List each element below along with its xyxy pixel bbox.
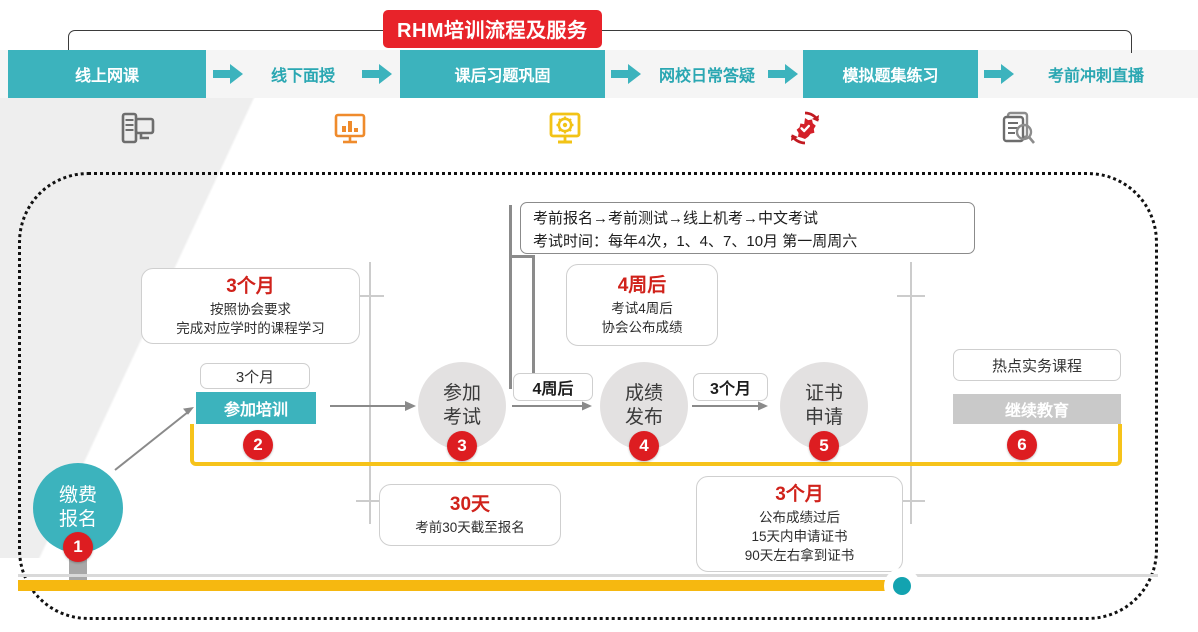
step-2-chip-main[interactable]: 参加培训 bbox=[196, 392, 316, 424]
guide-tick-right-top bbox=[897, 295, 925, 297]
note-line-1: 按照协会要求 bbox=[210, 300, 291, 319]
note-three-month-certificate: 3个月 公布成绩过后 15天内申请证书 90天左右拿到证书 bbox=[696, 476, 903, 572]
header-arrow-1 bbox=[213, 63, 243, 85]
guide-tick-left-top bbox=[356, 295, 384, 297]
header-arrow-2 bbox=[362, 63, 392, 85]
note-line-1: 考前30天截至报名 bbox=[415, 518, 525, 537]
desktop-computer-icon bbox=[108, 100, 168, 156]
arrow-step3-to-step4 bbox=[512, 399, 596, 413]
header-step-5[interactable]: 模拟题集练习 bbox=[803, 50, 978, 98]
refresh-check-icon bbox=[775, 100, 835, 156]
header-step-2[interactable]: 线下面授 bbox=[248, 50, 358, 98]
note-highlight: 30天 bbox=[450, 493, 490, 516]
step-1-badge: 1 bbox=[63, 532, 93, 562]
note-highlight: 3个月 bbox=[226, 275, 275, 298]
diagram-canvas: RHM培训流程及服务 线上网课 线下面授 课后习题巩固 网校日常答疑 模拟题集练… bbox=[0, 0, 1198, 632]
note-line-2: 协会公布成绩 bbox=[602, 318, 683, 337]
timeline-progress-dot[interactable] bbox=[893, 577, 911, 595]
step-1-label-line-1: 缴费 bbox=[59, 484, 97, 508]
header-step-3[interactable]: 课后习题巩固 bbox=[400, 50, 605, 98]
arrow-step1-to-step2 bbox=[110, 400, 200, 475]
step-6-badge: 6 bbox=[1007, 430, 1037, 460]
step-4-label-line-2: 发布 bbox=[625, 406, 663, 430]
exam-info-line-2: 考试时间：每年4次，1、4、7、10月 第一周周六 bbox=[533, 230, 964, 253]
document-search-icon bbox=[988, 100, 1048, 156]
note-line-2: 15天内申请证书 bbox=[751, 527, 847, 546]
exam-note-connector-down bbox=[532, 255, 535, 389]
step-4-badge: 4 bbox=[629, 431, 659, 461]
header-arrow-5 bbox=[984, 63, 1014, 85]
exam-info-box: 考前报名→考前测试→线上机考→中文考试 考试时间：每年4次，1、4、7、10月 … bbox=[520, 202, 975, 254]
arrow-step4-to-step5 bbox=[692, 399, 772, 413]
header-step-6[interactable]: 考前冲刺直播 bbox=[1016, 50, 1176, 98]
step-5-label-line-1: 证书 bbox=[805, 382, 843, 406]
step-2-badge: 2 bbox=[243, 430, 273, 460]
note-highlight: 4周后 bbox=[618, 274, 667, 297]
gap-label-3-months: 3个月 bbox=[693, 373, 768, 401]
step-5-badge: 5 bbox=[809, 431, 839, 461]
note-line-3: 90天左右拿到证书 bbox=[745, 546, 855, 565]
header-step-4[interactable]: 网校日常答疑 bbox=[642, 50, 772, 98]
note-four-week-result: 4周后 考试4周后 协会公布成绩 bbox=[566, 264, 718, 346]
chart-monitor-icon bbox=[320, 100, 380, 156]
exam-note-connector-vertical bbox=[509, 205, 512, 389]
note-line-1: 公布成绩过后 bbox=[759, 508, 840, 527]
step-2-chip-duration: 3个月 bbox=[200, 363, 310, 389]
header-step-1[interactable]: 线上网课 bbox=[8, 50, 206, 98]
guide-line-left bbox=[369, 262, 371, 524]
timeline-progress-bar bbox=[18, 580, 898, 591]
note-three-month-training: 3个月 按照协会要求 完成对应学时的课程学习 bbox=[141, 268, 360, 344]
step-6-chip-main[interactable]: 继续教育 bbox=[953, 394, 1121, 424]
step-3-label-line-1: 参加 bbox=[443, 382, 481, 406]
note-line-1: 考试4周后 bbox=[611, 299, 673, 318]
arrow-step2-to-step3 bbox=[330, 398, 420, 414]
step-4-label-line-1: 成绩 bbox=[625, 382, 663, 406]
exam-info-line-1: 考前报名→考前测试→线上机考→中文考试 bbox=[533, 207, 964, 230]
note-highlight: 3个月 bbox=[775, 483, 824, 506]
gear-monitor-icon bbox=[535, 100, 595, 156]
note-line-2: 完成对应学时的课程学习 bbox=[176, 319, 325, 338]
page-title: RHM培训流程及服务 bbox=[383, 10, 602, 48]
header-arrow-4 bbox=[768, 63, 798, 85]
step-1-label-line-2: 报名 bbox=[59, 508, 97, 532]
step-3-label-line-2: 考试 bbox=[443, 406, 481, 430]
step-5-label-line-2: 申请 bbox=[805, 406, 843, 430]
gap-label-4-weeks: 4周后 bbox=[513, 373, 593, 401]
guide-line-right bbox=[910, 262, 912, 524]
step-3-badge: 3 bbox=[447, 431, 477, 461]
step-6-chip-course: 热点实务课程 bbox=[953, 349, 1121, 381]
timeline-baseline bbox=[18, 574, 1158, 577]
note-thirty-day-deadline: 30天 考前30天截至报名 bbox=[379, 484, 561, 546]
header-arrow-3 bbox=[611, 63, 641, 85]
